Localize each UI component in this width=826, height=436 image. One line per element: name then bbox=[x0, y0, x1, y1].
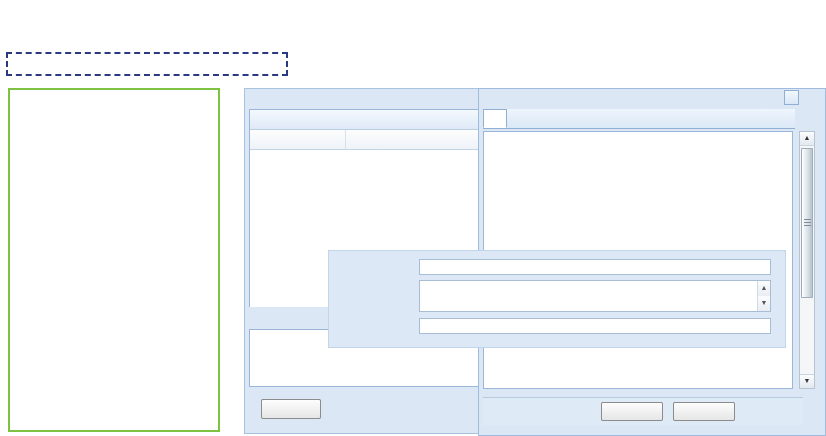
scroll-down-icon[interactable]: ▼ bbox=[800, 374, 814, 388]
file-title-input[interactable] bbox=[419, 259, 771, 275]
file-description-textarea[interactable] bbox=[419, 280, 771, 312]
process-chevron-bar bbox=[0, 2, 826, 44]
publish-tabstrip bbox=[483, 109, 795, 129]
scroll-up-icon[interactable]: ▲ bbox=[800, 132, 814, 146]
form-row-code bbox=[329, 318, 785, 334]
feature-list-box bbox=[8, 88, 220, 432]
form-row-title bbox=[329, 259, 785, 275]
file-description-label bbox=[329, 280, 415, 282]
distribution-grid-header bbox=[250, 130, 478, 150]
form-row-description: ▲ ▼ bbox=[329, 280, 785, 312]
original-file-code-label bbox=[329, 318, 415, 320]
scope-label bbox=[329, 340, 415, 342]
column-header-user-name bbox=[346, 130, 476, 149]
distribution-footer bbox=[245, 391, 483, 433]
publish-button[interactable] bbox=[601, 402, 663, 421]
description-scroll-down-icon[interactable]: ▼ bbox=[758, 296, 770, 311]
original-file-code-input[interactable] bbox=[419, 318, 771, 334]
confirm-button[interactable] bbox=[261, 399, 321, 419]
column-header-user-code bbox=[250, 130, 346, 149]
tab-file-a1[interactable] bbox=[483, 109, 507, 128]
description-scroll-up-icon[interactable]: ▲ bbox=[758, 281, 770, 296]
file-metadata-form-dialog: ▲ ▼ bbox=[328, 250, 786, 348]
distribution-toolbar bbox=[250, 110, 478, 130]
file-description-wrapper: ▲ ▼ bbox=[419, 280, 771, 312]
publish-tree-scrollbar[interactable]: ▲ ▼ bbox=[799, 131, 815, 389]
description-scrollbar[interactable]: ▲ ▼ bbox=[757, 281, 770, 311]
form-row-scope bbox=[329, 340, 785, 342]
publish-footer bbox=[483, 397, 803, 425]
scrollbar-thumb[interactable] bbox=[801, 148, 813, 298]
scrollbar-grip-icon bbox=[804, 219, 811, 227]
close-icon[interactable] bbox=[784, 90, 799, 105]
flow-method-note bbox=[6, 52, 288, 76]
cancel-button[interactable] bbox=[673, 402, 735, 421]
file-distribution-title bbox=[245, 89, 483, 109]
publish-titlebar bbox=[479, 89, 825, 109]
file-title-label bbox=[329, 259, 415, 261]
